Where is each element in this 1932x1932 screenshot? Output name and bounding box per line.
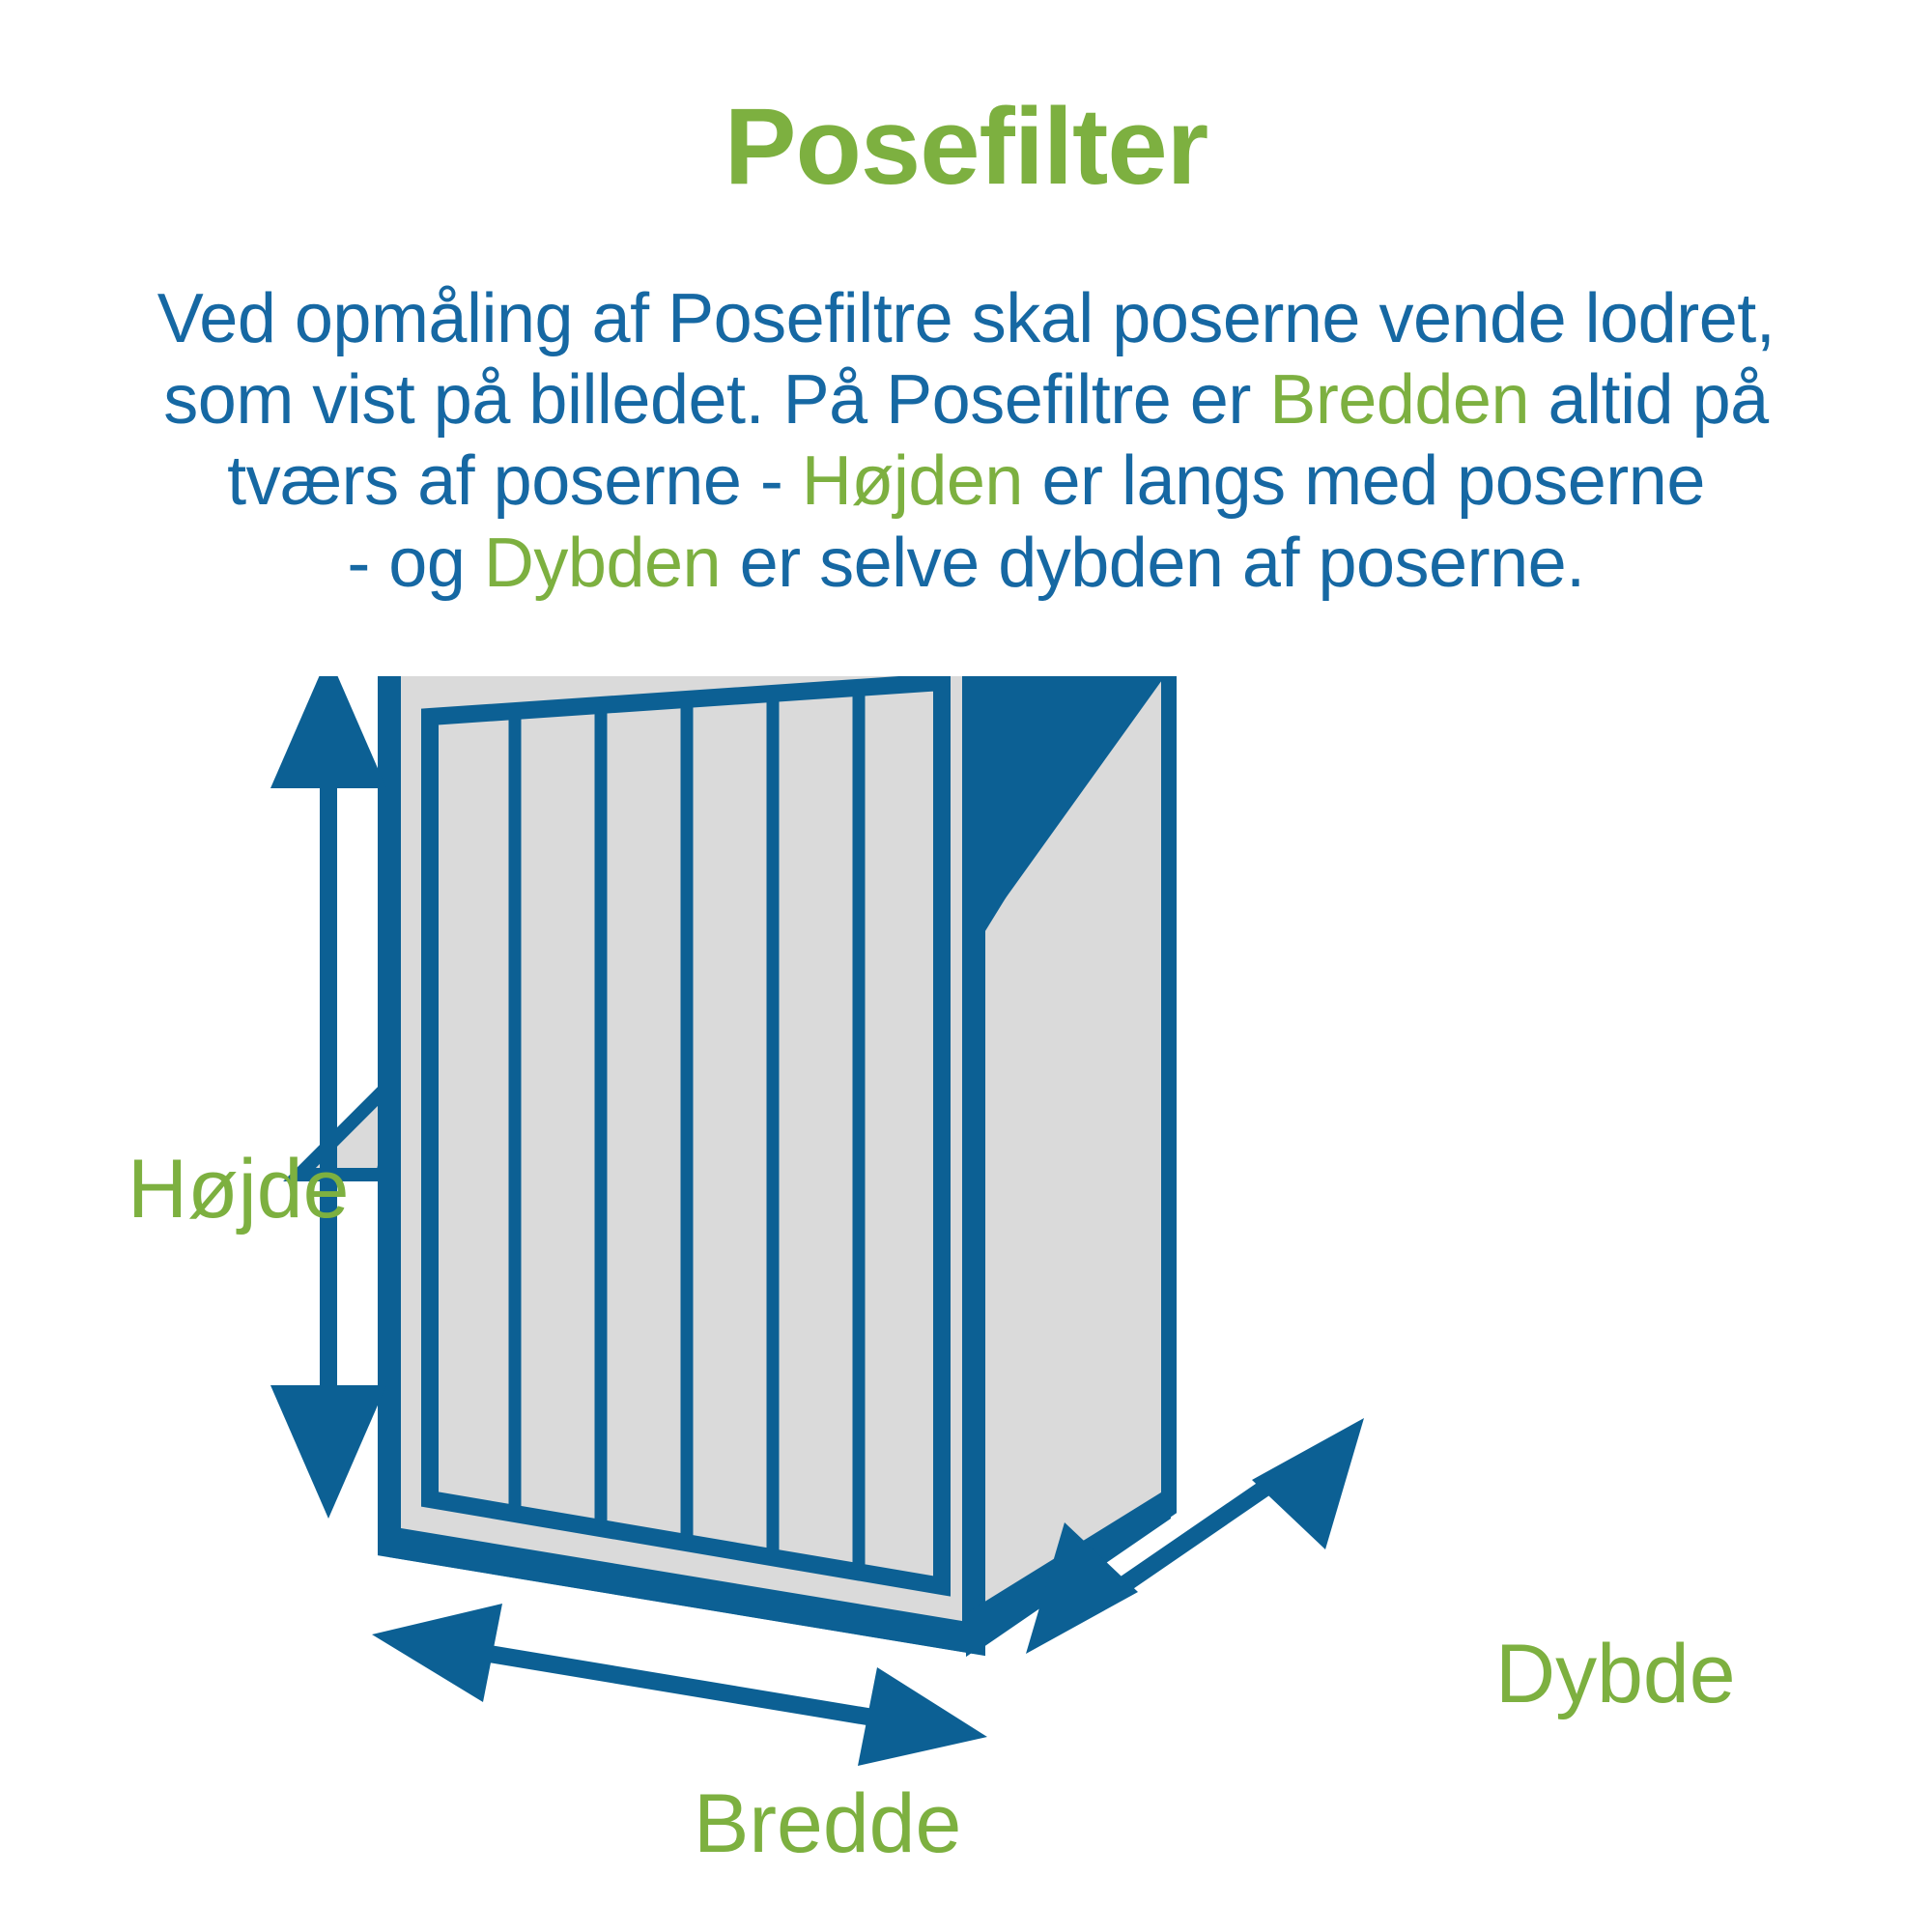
keyword-hojden: Højden bbox=[802, 442, 1023, 520]
intro-text: - og bbox=[347, 525, 484, 602]
intro-line-4: - og Dybden er selve dybden af poserne. bbox=[87, 523, 1845, 604]
intro-text: altid på bbox=[1529, 361, 1769, 439]
intro-text: tværs af poserne - bbox=[227, 442, 802, 520]
page-title: Posefilter bbox=[0, 93, 1932, 201]
poster-root: Posefilter Ved opmåling af Posefiltre sk… bbox=[0, 0, 1932, 1932]
keyword-bredden: Bredden bbox=[1269, 361, 1529, 439]
intro-line-3: tværs af poserne - Højden er langs med p… bbox=[87, 440, 1845, 522]
intro-line-2: som vist på billedet. På Posefiltre er B… bbox=[87, 359, 1845, 440]
intro-text: er selve dybden af poserne. bbox=[721, 525, 1585, 602]
dimension-label-depth: Dybde bbox=[1495, 1633, 1736, 1716]
keyword-dybden: Dybden bbox=[484, 525, 721, 602]
dimension-label-height: Højde bbox=[128, 1148, 349, 1231]
filter-body-illustration bbox=[299, 676, 1171, 1654]
intro-line-1: Ved opmåling af Posefiltre skal poserne … bbox=[87, 278, 1845, 359]
bag-filter-diagram bbox=[0, 676, 1932, 1932]
intro-text: er langs med poserne bbox=[1023, 442, 1705, 520]
intro-text: Ved opmåling af Posefiltre skal poserne … bbox=[157, 280, 1776, 357]
dimension-label-width: Bredde bbox=[694, 1782, 961, 1865]
intro-paragraph: Ved opmåling af Posefiltre skal poserne … bbox=[87, 278, 1845, 604]
intro-text: som vist på billedet. På Posefiltre er bbox=[163, 361, 1269, 439]
